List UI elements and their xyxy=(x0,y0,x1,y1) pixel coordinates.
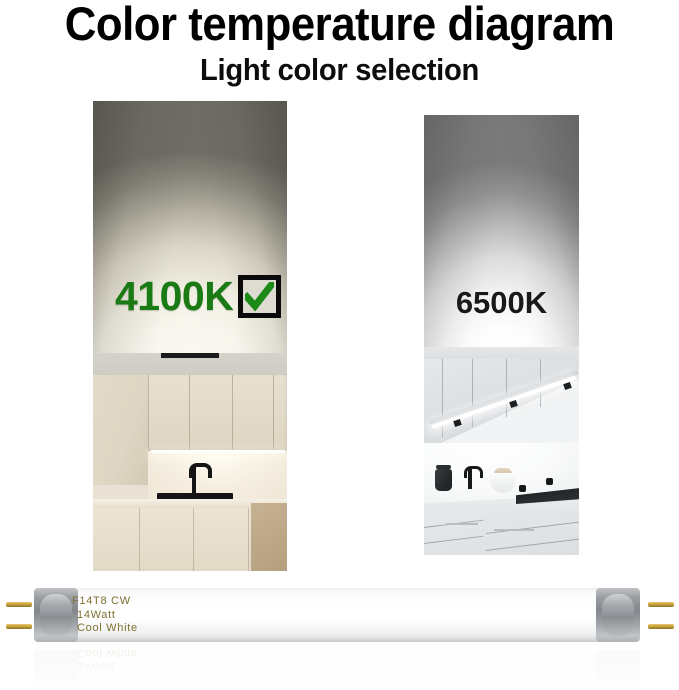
tube-reflection: F14T8 CW 14Watt Cool White xyxy=(0,644,679,690)
faucet-arc xyxy=(464,466,483,478)
tube-pin xyxy=(648,602,674,607)
page-subtitle: Light color selection xyxy=(20,52,658,88)
cabinet-seam xyxy=(472,359,473,427)
cooktop-knob xyxy=(546,478,553,485)
reflection-model-line: F14T8 CW xyxy=(72,673,138,687)
tall-cabinet xyxy=(93,375,149,485)
cabinet-seam xyxy=(506,359,507,417)
page-title: Color temperature diagram xyxy=(24,0,655,50)
tube-pin xyxy=(648,624,674,629)
under-cabinet-light xyxy=(151,450,285,453)
tube-end-cap-right xyxy=(596,588,640,642)
reflection-wattage-line: 14Watt xyxy=(72,659,138,673)
panel-cool-6500k[interactable]: 6500K xyxy=(424,115,579,555)
cooktop-knob xyxy=(519,485,526,492)
tube-pin xyxy=(6,624,32,629)
tube-print-text: F14T8 CW 14Watt Cool White xyxy=(72,595,138,636)
cabinet-seam xyxy=(273,375,274,451)
ceiling xyxy=(424,347,579,359)
electric-kettle xyxy=(435,469,452,491)
reflection-color-line: Cool White xyxy=(72,646,138,660)
temperature-label-6500k: 6500K xyxy=(424,287,579,318)
range-hood-vent xyxy=(161,353,219,358)
selected-checkbox[interactable] xyxy=(238,275,281,318)
reflection-cap-right xyxy=(596,650,640,690)
cabinet-seam xyxy=(139,508,140,571)
light-bar-clip xyxy=(563,382,572,390)
tube-model-line: F14T8 CW xyxy=(72,595,138,609)
drawer-handle xyxy=(446,523,478,525)
panel-warm-4100k[interactable]: 4100K xyxy=(93,101,287,571)
cabinet-seam xyxy=(248,508,249,571)
tube-wattage-line: 14Watt xyxy=(72,609,138,623)
tube-cap-inner xyxy=(40,594,72,636)
fluorescent-tube-product[interactable]: F14T8 CW 14Watt Cool White xyxy=(0,586,679,644)
reflection-text: F14T8 CW 14Watt Cool White xyxy=(72,646,138,687)
warm-kitchen-photo xyxy=(93,353,287,571)
tube-pin xyxy=(6,602,32,607)
tube-color-line: Cool White xyxy=(72,622,138,636)
cabinet-seam xyxy=(232,375,233,451)
drawer-handle xyxy=(494,529,534,531)
warm-temperature-label-row: 4100K xyxy=(115,275,281,318)
dark-side-cabinet xyxy=(251,503,287,571)
cool-kitchen-photo xyxy=(424,347,579,555)
checkmark-icon xyxy=(245,282,274,311)
temperature-label-4100k: 4100K xyxy=(115,276,233,317)
cabinet-seam xyxy=(189,375,190,451)
faucet-stem xyxy=(192,467,196,495)
tube-cap-inner xyxy=(602,594,634,636)
backsplash xyxy=(148,451,287,499)
cabinet-seam xyxy=(193,508,194,571)
faucet-stem xyxy=(468,469,472,489)
